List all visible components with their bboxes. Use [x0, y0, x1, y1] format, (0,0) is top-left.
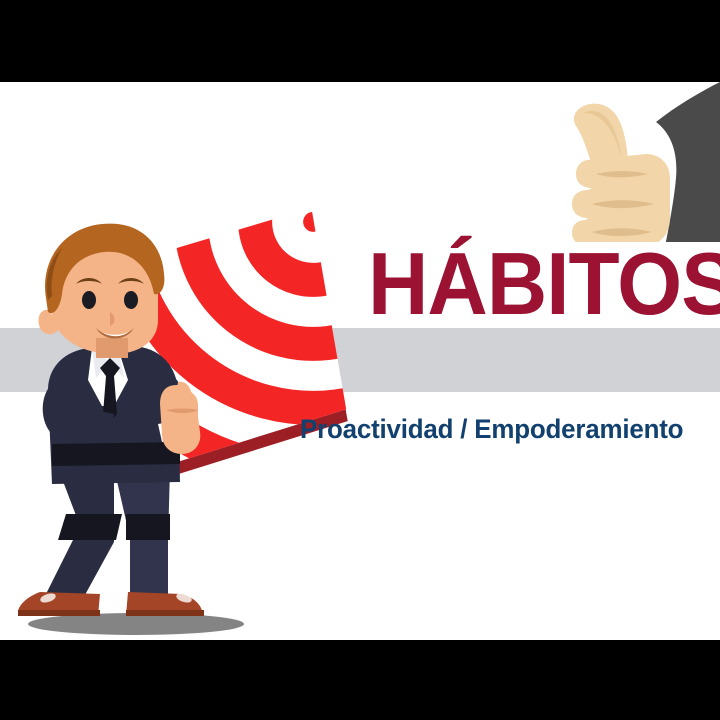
letterbox-bar-top [0, 0, 720, 82]
letterbox-bar-bottom [0, 640, 720, 720]
slide-stage: HÁBITOS Proactividad / Empoderamiento [0, 0, 720, 720]
slide-canvas: HÁBITOS Proactividad / Empoderamiento [0, 82, 720, 640]
thumbs-up-illustration [548, 82, 720, 242]
businessman-target-illustration [18, 142, 348, 640]
ground-shadow [28, 613, 244, 635]
page-title: HÁBITOS [368, 240, 720, 328]
head [38, 224, 164, 358]
shoe-right [126, 592, 204, 616]
page-subtitle: Proactividad / Empoderamiento [300, 414, 683, 444]
shoe-left [18, 592, 100, 616]
